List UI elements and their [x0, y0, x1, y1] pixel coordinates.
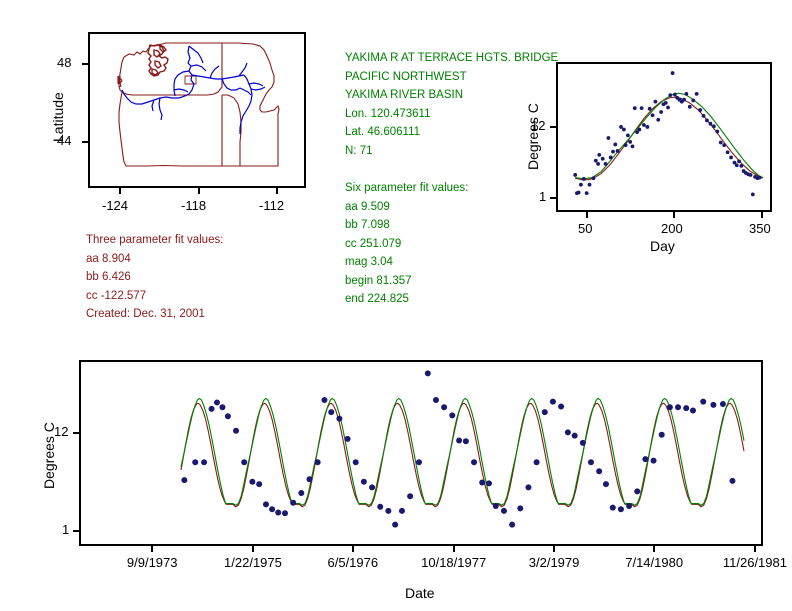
seasonal-data-point: [682, 98, 686, 102]
three-param-bb: bb 6.426: [86, 268, 223, 287]
seasonal-data-point: [619, 125, 623, 129]
seasonal-xtick-200: [673, 212, 675, 218]
seasonal-data-point: [642, 123, 646, 127]
timeseries-data-point: [233, 428, 239, 434]
seasonal-data-point: [601, 157, 605, 161]
seasonal-ylabel: Degrees C: [525, 103, 541, 170]
timeseries-data-point: [336, 416, 342, 422]
seasonal-data-point: [609, 156, 613, 160]
timeseries-xtick-6: [754, 546, 756, 552]
seasonal-data-point: [626, 133, 630, 137]
timeseries-data-point: [720, 401, 726, 407]
timeseries-chart-canvas: [81, 362, 761, 544]
timeseries-data-point: [517, 505, 523, 511]
three-param-aa: aa 8.904: [86, 250, 223, 269]
timeseries-data-point: [416, 459, 422, 465]
timeseries-data-point: [290, 500, 296, 506]
seasonal-data-point: [604, 162, 608, 166]
seasonal-data-point: [628, 140, 632, 144]
station-basin: YAKIMA RIVER BASIN: [345, 86, 558, 105]
map-ytick-48: [82, 63, 88, 65]
seasonal-data-point: [739, 164, 743, 168]
timeseries-ylabel: Degrees C: [41, 422, 57, 489]
seasonal-data-point: [671, 71, 675, 75]
seasonal-data-point: [651, 113, 655, 117]
timeseries-data-point: [263, 501, 269, 507]
timeseries-data-point: [651, 458, 657, 464]
seasonal-chart-canvas: [558, 64, 770, 210]
timeseries-data-point: [449, 412, 455, 418]
timeseries-data-point: [385, 508, 391, 514]
timeseries-xtick-label-6: 11/26/1981: [723, 555, 787, 570]
seasonal-data-point: [582, 177, 586, 181]
timeseries-data-point: [269, 506, 275, 512]
seasonal-data-point: [659, 110, 663, 114]
timeseries-data-point: [219, 404, 225, 410]
timeseries-xtick-3: [453, 546, 455, 552]
seasonal-data-point: [726, 150, 730, 154]
timeseries-data-point: [509, 522, 515, 528]
timeseries-data-point: [525, 484, 531, 490]
seasonal-data-point: [645, 125, 649, 129]
seasonal-data-point: [705, 119, 709, 123]
seasonal-data-point: [737, 159, 741, 163]
map-xtick-112: [276, 188, 278, 194]
seasonal-data-point: [573, 173, 577, 177]
map-xtick-label-118: -118: [181, 198, 206, 213]
timeseries-data-point: [225, 413, 231, 419]
seasonal-data-point: [624, 143, 628, 147]
seasonal-data-point: [607, 136, 611, 140]
timeseries-data-point: [471, 459, 477, 465]
seasonal-data-point: [715, 130, 719, 134]
seasonal-data-point: [654, 100, 658, 104]
timeseries-data-point: [249, 479, 255, 485]
timeseries-data-point: [407, 493, 413, 499]
seasonal-data-point: [691, 98, 695, 102]
timeseries-data-point: [675, 404, 681, 410]
seasonal-data-point: [579, 183, 583, 187]
seasonal-data-point: [596, 162, 600, 166]
seasonal-xlabel: Day: [650, 238, 675, 254]
timeseries-xtick-0: [151, 546, 153, 552]
six-param-begin: begin 81.357: [345, 272, 468, 291]
timeseries-data-point: [353, 459, 359, 465]
seasonal-data-point: [722, 143, 726, 147]
seasonal-data-point: [712, 124, 716, 128]
timeseries-data-point: [486, 480, 492, 486]
seasonal-xtick-label-200: 200: [661, 221, 683, 236]
timeseries-data-point: [603, 481, 609, 487]
timeseries-data-point: [345, 436, 351, 442]
timeseries-data-point: [361, 479, 367, 485]
seasonal-data-point: [611, 150, 615, 154]
timeseries-data-point: [690, 408, 696, 414]
timeseries-data-point: [729, 478, 735, 484]
seasonal-data-point: [640, 106, 644, 110]
seasonal-xtick-label-350: 350: [749, 221, 771, 236]
seasonal-data-point: [758, 176, 762, 180]
station-region: PACIFIC NORTHWEST: [345, 68, 558, 87]
seasonal-data-point: [719, 141, 723, 145]
timeseries-data-point: [181, 477, 187, 483]
six-param-mag: mag 3.04: [345, 253, 468, 272]
timeseries-data-point: [433, 397, 439, 403]
timeseries-data-point: [610, 505, 616, 511]
timeseries-data-point: [479, 480, 485, 486]
six-param-end: end 224.825: [345, 290, 468, 309]
six-param-cc: cc 251.079: [345, 235, 468, 254]
timeseries-data-point: [493, 503, 499, 509]
seasonal-xtick-50: [586, 212, 588, 218]
timeseries-data-point: [659, 432, 665, 438]
timeseries-xtick-2: [352, 546, 354, 552]
timeseries-data-point: [642, 456, 648, 462]
seasonal-three-parameter-fit-line: [575, 97, 763, 180]
timeseries-data-point: [634, 488, 640, 494]
timeseries-xtick-label-3: 10/18/1977: [421, 555, 486, 570]
seasonal-data-point: [668, 93, 672, 97]
seasonal-data-point: [594, 159, 598, 163]
timeseries-data-point: [241, 459, 247, 465]
seasonal-data-point: [656, 118, 660, 122]
station-name: YAKIMA R AT TERRACE HGTS. BRIDGE: [345, 49, 558, 68]
timeseries-data-point: [626, 503, 632, 509]
six-parameter-fit-block: Six parameter fit values: aa 9.509 bb 7.…: [345, 179, 468, 309]
seasonal-xtick-350: [761, 212, 763, 218]
seasonal-data-point: [592, 176, 596, 180]
timeseries-data-point: [456, 437, 462, 443]
timeseries-xtick-label-1: 1/22/1975: [224, 555, 282, 570]
seasonal-data-point: [751, 193, 755, 197]
seasonal-data-point: [648, 107, 652, 111]
timeseries-data-point: [565, 429, 571, 435]
timeseries-data-point: [683, 405, 689, 411]
three-param-created: Created: Dec. 31, 2001: [86, 305, 223, 324]
six-param-bb: bb 7.098: [345, 216, 468, 235]
seasonal-data-point: [631, 145, 635, 149]
timeseries-data-point: [700, 399, 706, 405]
timeseries-data-point: [580, 440, 586, 446]
timeseries-data-point: [710, 402, 716, 408]
three-param-cc: cc -122.577: [86, 287, 223, 306]
timeseries-three-parameter-fit-line: [181, 403, 744, 507]
seasonal-data-point: [702, 114, 706, 118]
timeseries-data-point: [192, 459, 198, 465]
map-xtick-label-124: -124: [102, 198, 128, 213]
map-xtick-label-112: -112: [259, 198, 284, 213]
seasonal-data-point: [695, 92, 699, 96]
map-ylabel: Latitude: [50, 92, 66, 142]
timeseries-data-point: [534, 459, 540, 465]
seasonal-ytick-1: [550, 197, 556, 199]
seasonal-data-point: [698, 108, 702, 112]
seasonal-data-point: [588, 183, 592, 187]
timeseries-data-point: [275, 509, 281, 515]
seasonal-data-point: [616, 149, 620, 153]
seasonal-ytick-12: [550, 126, 556, 128]
timeseries-data-point: [501, 508, 507, 514]
timeseries-data-point: [550, 399, 556, 405]
seasonal-data-point: [664, 101, 668, 105]
timeseries-data-point: [306, 476, 312, 482]
timeseries-xtick-label-0: 9/9/1973: [127, 555, 178, 570]
seasonal-data-point: [735, 163, 739, 167]
three-param-heading: Three parameter fit values:: [86, 231, 223, 250]
seasonal-xtick-label-50: 50: [578, 221, 592, 236]
timeseries-data-point: [214, 399, 220, 405]
timeseries-xtick-1: [252, 546, 254, 552]
timeseries-xlabel: Date: [405, 585, 435, 601]
timeseries-data-point: [618, 506, 624, 512]
timeseries-data-point: [542, 409, 548, 415]
timeseries-xtick-label-4: 3/2/1979: [529, 555, 580, 570]
seasonal-data-point: [613, 143, 617, 147]
seasonal-data-point: [684, 92, 688, 96]
timeseries-xtick-label-2: 6/5/1976: [328, 555, 379, 570]
timeseries-data-point: [596, 468, 602, 474]
map-xtick-118: [198, 188, 200, 194]
timeseries-data-point: [399, 508, 405, 514]
timeseries-data-point: [328, 409, 334, 415]
three-parameter-fit-block: Three parameter fit values: aa 8.904 bb …: [86, 231, 223, 324]
timeseries-data-point: [588, 459, 594, 465]
seasonal-data-point: [637, 128, 641, 132]
seasonal-data-point: [749, 173, 753, 177]
six-param-heading: Six parameter fit values:: [345, 179, 468, 198]
map-ytick-44: [82, 141, 88, 143]
timeseries-data-point: [256, 481, 262, 487]
timeseries-ytick-label-1: 1: [62, 522, 69, 537]
timeseries-data-point: [425, 370, 431, 376]
timeseries-xtick-label-5: 7/14/1980: [625, 555, 683, 570]
map-xtick-124: [119, 188, 121, 194]
timeseries-data-point: [558, 403, 564, 409]
timeseries-data-point: [572, 433, 578, 439]
seasonal-data-point: [622, 128, 626, 132]
timeseries-data-point: [201, 459, 207, 465]
seasonal-data-point: [673, 93, 677, 97]
seasonal-data-point: [585, 191, 589, 195]
timeseries-data-point: [209, 406, 215, 412]
timeseries-xtick-4: [553, 546, 555, 552]
timeseries-data-point: [282, 510, 288, 516]
timeseries-data-point: [441, 404, 447, 410]
timeseries-six-parameter-fit-line: [181, 398, 744, 505]
timeseries-data-point: [667, 404, 673, 410]
timeseries-data-point: [369, 484, 375, 490]
timeseries-ytick-1: [73, 530, 79, 532]
seasonal-data-point: [729, 156, 733, 160]
seasonal-ytick-label-1: 1: [539, 189, 546, 204]
timeseries-data-point: [463, 438, 469, 444]
map-ytick-label-48: 48: [57, 55, 71, 70]
timeseries-data-point: [298, 490, 304, 496]
timeseries-data-point: [377, 504, 383, 510]
seasonal-data-point: [577, 191, 581, 195]
timeseries-xtick-5: [653, 546, 655, 552]
seasonal-data-point: [597, 153, 601, 157]
map-geography: [88, 32, 306, 188]
seasonal-data-point: [709, 122, 713, 126]
seasonal-data-point: [666, 106, 670, 110]
timeseries-ytick-12: [73, 432, 79, 434]
timeseries-data-point: [315, 459, 321, 465]
timeseries-data-point: [321, 397, 327, 403]
seasonal-data-point: [688, 105, 692, 109]
timeseries-data-point: [392, 522, 398, 528]
seasonal-data-point: [633, 106, 637, 110]
six-param-aa: aa 9.509: [345, 198, 468, 217]
